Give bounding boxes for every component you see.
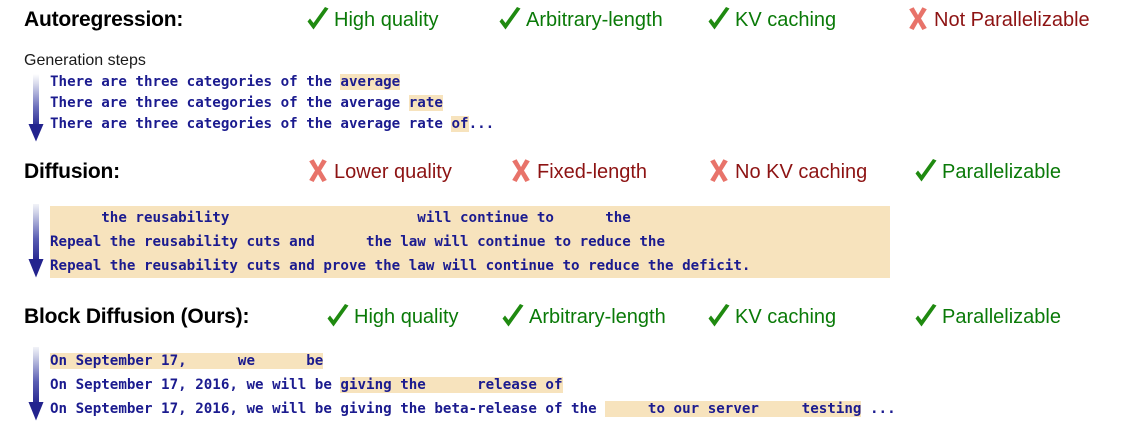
token-line: Repeal the reusability cuts and prove th… xyxy=(50,254,750,278)
token-segment-highlighted: rate xyxy=(409,95,443,111)
feature-label: High quality xyxy=(354,303,459,331)
check-icon xyxy=(706,303,732,331)
feature-not-parallelizable: Not Parallelizable xyxy=(905,6,1090,34)
feature-high-quality: High quality xyxy=(325,303,459,331)
check-icon xyxy=(305,6,331,34)
token-line: On September 17, 2016, we will be giving… xyxy=(50,397,896,421)
feature-high-quality: High quality xyxy=(305,6,439,34)
token-segment-highlighted: of xyxy=(451,116,468,132)
token-segment: There are three categories of the averag… xyxy=(50,116,451,132)
feature-kv-caching: KV caching xyxy=(706,303,836,331)
token-row: Repeal the reusability cuts and the law … xyxy=(0,230,1124,254)
section-header-autoregression: Autoregression: Generation steps High qu… xyxy=(0,8,1124,42)
check-icon xyxy=(497,6,523,34)
page-title-diffusion: Diffusion: xyxy=(24,160,120,184)
feature-parallelizable: Parallelizable xyxy=(913,303,1061,331)
feature-parallelizable: Parallelizable xyxy=(913,158,1061,186)
feature-arbitrary-length: Arbitrary-length xyxy=(497,6,663,34)
generation-steps-label: Generation steps xyxy=(24,52,146,70)
feature-label: Fixed-length xyxy=(537,158,647,186)
token-rows-block-diffusion: On September 17, we be On September 17, … xyxy=(0,349,1124,421)
feature-label: Parallelizable xyxy=(942,158,1061,186)
feature-label: High quality xyxy=(334,6,439,34)
token-line: the reusability will continue to the xyxy=(50,206,631,230)
token-rows-autoregression: There are three categories of the averag… xyxy=(0,72,1124,135)
section-header-diffusion: Diffusion: Lower quality xyxy=(0,160,1124,194)
token-rows-diffusion: the reusability will continue to the Rep… xyxy=(0,206,1124,278)
cross-icon xyxy=(305,158,331,186)
cross-icon xyxy=(905,6,931,34)
token-line: On September 17, 2016, we will be giving… xyxy=(50,373,563,397)
token-line: There are three categories of the averag… xyxy=(50,114,494,135)
token-segment-highlighted: average xyxy=(340,74,400,90)
check-icon xyxy=(913,158,939,186)
token-segment-ellipsis: ... xyxy=(469,116,495,132)
token-segment: On September 17, 2016, we will be giving… xyxy=(50,401,605,417)
cross-icon xyxy=(706,158,732,186)
page-title-autoregression: Autoregression: xyxy=(24,8,183,32)
token-row: On September 17, 2016, we will be giving… xyxy=(0,373,1124,397)
token-row: On September 17, we be xyxy=(0,349,1124,373)
feature-label: Arbitrary-length xyxy=(526,6,663,34)
token-row: There are three categories of the averag… xyxy=(0,114,1124,135)
block-diffusion-comparison-figure: Autoregression: Generation steps High qu… xyxy=(0,0,1124,447)
token-row: Repeal the reusability cuts and prove th… xyxy=(0,254,1124,278)
feature-label: Arbitrary-length xyxy=(529,303,666,331)
feature-label: Not Parallelizable xyxy=(934,6,1090,34)
cross-icon xyxy=(508,158,534,186)
feature-label: Parallelizable xyxy=(942,303,1061,331)
page-title-block-diffusion: Block Diffusion (Ours): xyxy=(24,305,249,329)
feature-label: KV caching xyxy=(735,303,836,331)
feature-label: Lower quality xyxy=(334,158,452,186)
token-segment: There are three categories of the averag… xyxy=(50,95,409,111)
feature-arbitrary-length: Arbitrary-length xyxy=(500,303,666,331)
feature-lower-quality: Lower quality xyxy=(305,158,452,186)
section-autoregression: Autoregression: Generation steps High qu… xyxy=(0,8,1124,42)
token-row: the reusability will continue to the xyxy=(0,206,1124,230)
token-line: Repeal the reusability cuts and the law … xyxy=(50,230,665,254)
token-line: On September 17, we be xyxy=(50,349,323,373)
feature-kv-caching: KV caching xyxy=(706,6,836,34)
token-segment-highlighted: On September 17, we be xyxy=(50,353,323,369)
token-line: There are three categories of the averag… xyxy=(50,93,443,114)
check-icon xyxy=(706,6,732,34)
feature-label: No KV caching xyxy=(735,158,867,186)
section-diffusion: Diffusion: Lower quality xyxy=(0,160,1124,194)
token-line: There are three categories of the averag… xyxy=(50,72,400,93)
feature-no-kv-caching: No KV caching xyxy=(706,158,867,186)
feature-label: KV caching xyxy=(735,6,836,34)
section-header-block-diffusion: Block Diffusion (Ours): High quality xyxy=(0,305,1124,339)
token-row: There are three categories of the averag… xyxy=(0,93,1124,114)
token-segment: There are three categories of the xyxy=(50,74,340,90)
check-icon xyxy=(325,303,351,331)
check-icon xyxy=(913,303,939,331)
check-icon xyxy=(500,303,526,331)
token-segment-ellipsis: ... xyxy=(861,401,895,417)
feature-fixed-length: Fixed-length xyxy=(508,158,647,186)
token-segment-highlighted: giving the release of xyxy=(340,377,562,393)
token-segment: On September 17, 2016, we will be xyxy=(50,377,340,393)
token-row: There are three categories of the averag… xyxy=(0,72,1124,93)
section-block-diffusion: Block Diffusion (Ours): High quality xyxy=(0,305,1124,339)
token-segment-highlighted: to our server testing xyxy=(605,401,861,417)
token-row: On September 17, 2016, we will be giving… xyxy=(0,397,1124,421)
